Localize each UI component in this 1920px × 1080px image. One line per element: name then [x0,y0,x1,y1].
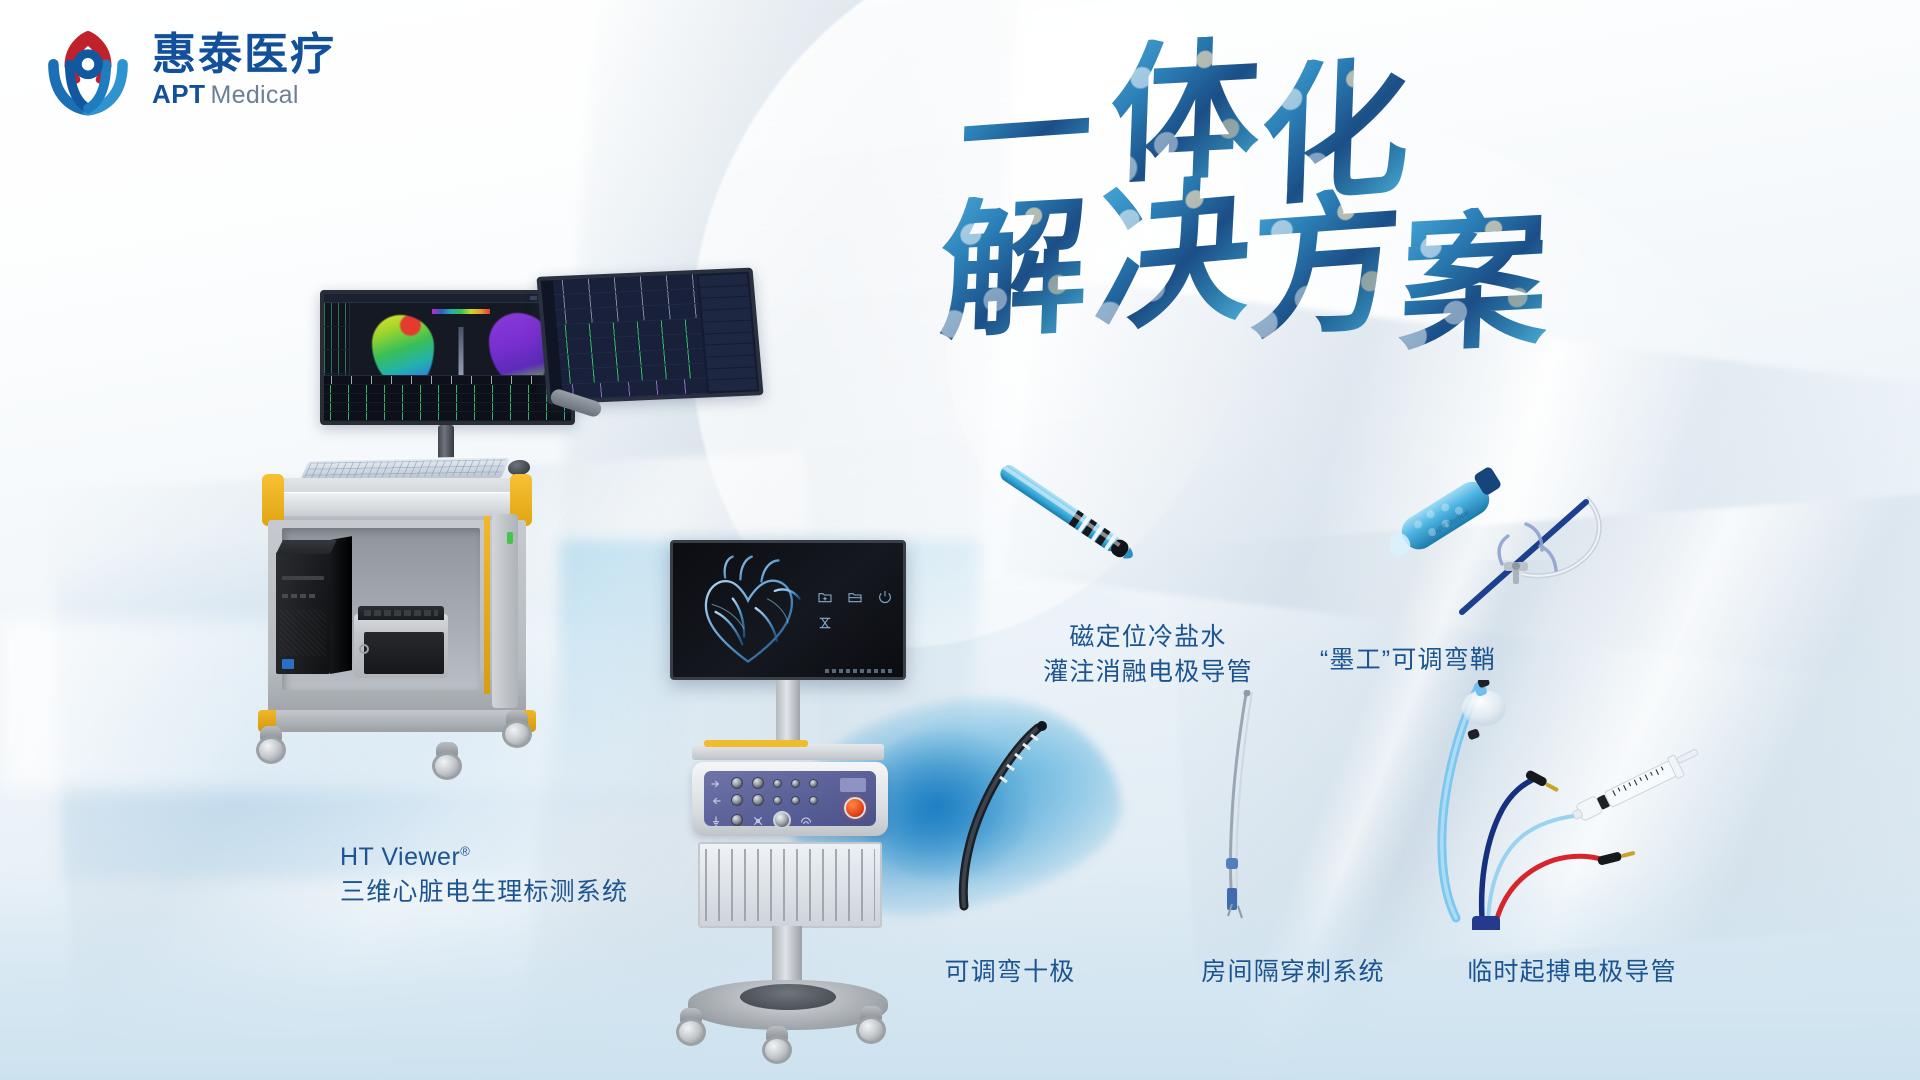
power-icon[interactable] [877,589,893,605]
input-arrow-icon [710,777,722,789]
measurement-row [702,309,751,322]
caster-wheel [256,726,286,764]
headline-calligraphy: 一 体 化 解 决 方 案 [960,30,1660,350]
open-folder-icon[interactable] [847,589,863,605]
connector-port[interactable] [731,777,743,789]
heart-wireframe-graphic [687,549,811,673]
signal-trace [324,350,349,374]
ep-workstation-cart [250,290,670,830]
measurement-table-panel [697,272,759,394]
electrogram-monitor [536,268,763,405]
toolbar-chip [530,296,537,300]
mapping-monitor [320,290,575,425]
display-icon-tray [817,589,893,631]
printer-power-button[interactable] [359,644,369,654]
transseptal-label-line1: 房间隔穿刺系统 [1201,955,1384,990]
steerable-sheath-label-line1: “墨工”可调弯鞘 [1320,643,1496,678]
connector-port[interactable] [752,777,764,789]
ablation-catheter-label: 磁定位冷盐水 灌注消融电极导管 [1043,620,1253,689]
signal-trace [324,327,349,351]
caster-wheel [856,1006,886,1044]
connector-port[interactable] [752,794,764,806]
steerable-sheath-label: “墨工”可调弯鞘 [1320,643,1496,678]
tray-bumper-left [262,474,284,526]
shelf-yellow-trim [704,740,808,747]
catheter-icon [752,814,764,826]
heart-visualization-display [670,540,906,680]
ablation-catheter-label-line1: 磁定位冷盐水 [1043,620,1253,655]
brand-name-en-light: Medical [211,83,299,108]
ecg-channel [324,376,571,385]
settings-icon[interactable] [817,615,833,631]
panel-display-label [840,778,866,792]
ecg-channel [324,394,571,403]
measurement-row [706,355,755,368]
display-stand-column [776,680,800,748]
pacing-catheter-label: 临时起搏电极导管 [1467,955,1677,990]
audio-port [309,594,315,598]
printer-front-cover [364,632,444,674]
transseptal-label: 房间隔穿刺系统 [1201,955,1384,990]
brand-logo: 惠泰医疗 APT Medical [40,22,336,118]
display-footer-branding [825,669,895,673]
cart-handle-rail [492,514,518,708]
measurement-row [704,332,753,345]
headline-char-6: 方 [1248,184,1405,347]
usb-port [291,594,297,598]
connector-port-small[interactable] [809,779,818,788]
ecg-channel [324,412,571,421]
headline-char-4: 解 [938,191,1091,347]
output-arrow-icon [710,794,722,806]
coaxial-output-port[interactable] [773,811,791,829]
pc-tower-top [276,540,337,554]
caster-wheel [432,742,462,780]
waveform-area [553,274,707,400]
ecg-channel [324,403,571,412]
trademark-symbol: ® [460,844,471,859]
decapolar-label-line1: 可调弯十极 [944,955,1075,990]
usb-port [282,594,288,598]
brand-name-cn: 惠泰医疗 [152,32,336,78]
connector-port[interactable] [731,794,743,806]
tray-drawer-front [278,492,516,516]
connector-port-small[interactable] [791,779,800,788]
workstation-name-en: HT Viewer [340,843,460,871]
headline-char-5: 决 [1091,171,1255,342]
pc-tower-side-panel [330,536,352,674]
signal-trace [324,303,349,327]
workstation-label-en: HT Viewer® [340,840,628,875]
brand-name-en-bold: APT [152,81,206,107]
measurement-row [700,285,749,298]
measurement-row [707,367,756,380]
brand-logo-text: 惠泰医疗 APT Medical [152,32,336,107]
monitor-toolbar [324,294,571,303]
electrogram-strip [324,375,571,421]
cart-base-plate [260,710,534,732]
electrogram-monitor-body [541,272,759,401]
connector-row-1 [710,777,870,789]
cart-center-column [772,926,802,988]
connector-port-small[interactable] [791,796,800,805]
ground-icon [710,814,722,826]
display-rf-cart [640,540,950,1050]
steerable-sheath-product: APT Medical [1390,440,1680,630]
transseptal-system-product [1200,690,1290,920]
workstation-label: HT Viewer® 三维心脏电生理标测系统 [340,840,628,909]
connector-port-small[interactable] [809,796,818,805]
pacing-catheter-label-line1: 临时起搏电极导管 [1467,955,1677,990]
usb-port [300,594,306,598]
caster-wheel [676,1008,706,1046]
decapolar-catheter-product [930,720,1070,920]
new-folder-icon[interactable] [817,589,833,605]
ventilation-mesh [280,610,326,656]
display-icon-row-2 [817,615,893,631]
connector-port-small[interactable] [773,779,782,788]
measurement-row [708,379,757,392]
pc-tower [276,552,330,674]
measurement-row [705,344,754,357]
rf-generator [692,762,888,836]
pacing-catheter-product [1420,680,1720,930]
measurement-row [699,274,748,287]
ablation-catheter-label-line2: 灌注消融电极导管 [1043,655,1253,690]
measurement-row [701,297,750,310]
optical-drive-slot [282,576,324,580]
catheter-render [458,327,463,379]
ecg-channel [324,385,571,394]
poster-canvas: 惠泰医疗 APT Medical 一 体 化 解 决 方 案 [0,0,1920,1080]
rf-start-button[interactable] [844,797,866,819]
caster-wheel [502,710,532,748]
rf-wave-icon [800,814,812,826]
apt-medical-lotus-logo-icon [40,22,136,118]
display-cart-shelf [692,744,884,760]
laser-printer [354,614,448,678]
brand-name-en: APT Medical [152,81,336,108]
map-color-scale [432,309,490,314]
ablation-catheter-product [980,450,1170,590]
accessory-basket [698,842,882,928]
workstation-label-cn: 三维心脏电生理标测系统 [340,875,628,910]
decapolar-label: 可调弯十极 [944,955,1075,990]
connector-port-small[interactable] [773,796,782,805]
power-status-led [507,532,513,544]
ground-port[interactable] [731,814,743,826]
cpu-badge-sticker [282,659,294,669]
measurement-row [703,320,752,333]
base-hub [740,984,836,1010]
cart-yellow-strip [484,516,490,694]
display-icon-row-1 [817,589,893,605]
rf-generator-connector-panel [704,771,876,826]
paper-output-tray [358,606,444,620]
front-port-group [282,594,315,598]
caster-wheel [762,1026,792,1064]
headline-char-7: 案 [1398,204,1551,360]
